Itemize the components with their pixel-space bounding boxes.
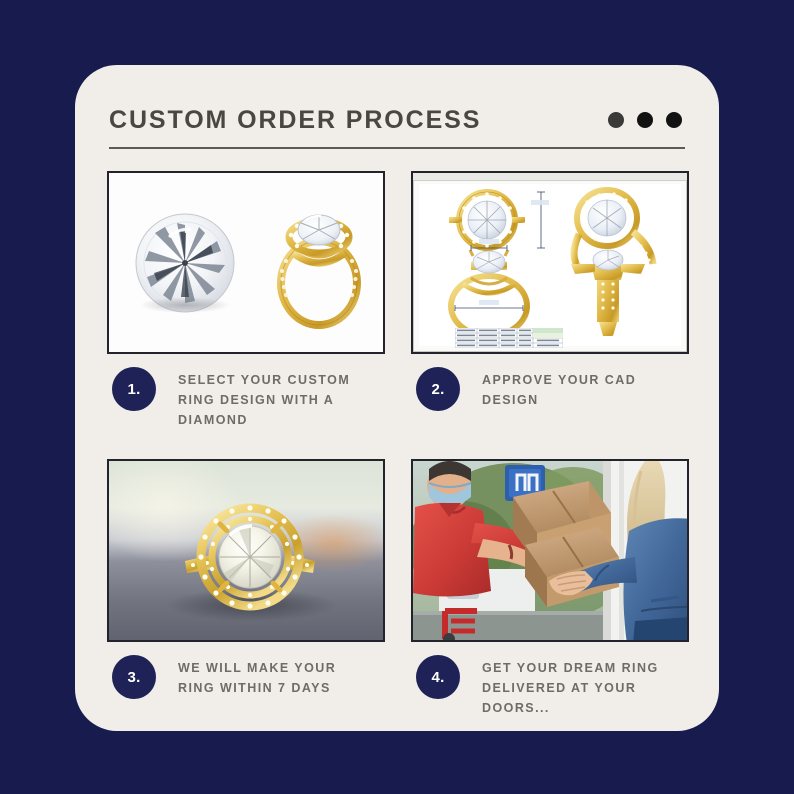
page-title: CUSTOM ORDER PROCESS bbox=[109, 106, 481, 135]
window-dot-2-icon[interactable] bbox=[637, 112, 653, 128]
step-3-thumbnail[interactable] bbox=[107, 459, 385, 642]
process-step-3: 3. WE WILL MAKE YOUR RING WITHIN 7 DAYS bbox=[107, 459, 385, 733]
step-3-caption-text: WE WILL MAKE YOUR RING WITHIN 7 DAYS bbox=[178, 658, 378, 698]
step-1-number-badge: 1. bbox=[112, 367, 156, 411]
card-titlebar: CUSTOM ORDER PROCESS bbox=[109, 90, 685, 150]
step-3-number-badge: 3. bbox=[112, 655, 156, 699]
step-4-thumbnail[interactable] bbox=[411, 459, 689, 642]
window-dot-3-icon[interactable] bbox=[666, 112, 682, 128]
window-dots bbox=[608, 112, 685, 128]
delivery-handoff-photo-image bbox=[413, 461, 687, 640]
step-2-number-badge: 2. bbox=[416, 367, 460, 411]
gold-halo-ring-icon bbox=[267, 199, 371, 331]
step-4-caption-text: GET YOUR DREAM RING DELIVERED AT YOUR DO… bbox=[482, 658, 682, 718]
step-2-caption-text: APPROVE YOUR CAD DESIGN bbox=[482, 370, 682, 410]
step-2-caption: 2. APPROVE YOUR CAD DESIGN bbox=[411, 367, 689, 445]
process-card: CUSTOM ORDER PROCESS bbox=[75, 65, 719, 731]
finished-ring-photo-image bbox=[109, 461, 383, 640]
header-divider bbox=[109, 147, 685, 149]
process-step-2: 2. APPROVE YOUR CAD DESIGN bbox=[411, 171, 689, 445]
process-step-1: 1. SELECT YOUR CUSTOM RING DESIGN WITH A… bbox=[107, 171, 385, 445]
step-4-caption: 4. GET YOUR DREAM RING DELIVERED AT YOUR… bbox=[411, 655, 689, 733]
loose-diamond-and-gold-halo-ring-image bbox=[109, 173, 383, 352]
step-1-caption: 1. SELECT YOUR CUSTOM RING DESIGN WITH A… bbox=[107, 367, 385, 445]
step-4-number-badge: 4. bbox=[416, 655, 460, 699]
cad-spec-table bbox=[455, 328, 563, 348]
finished-halo-ring-icon bbox=[177, 499, 323, 615]
step-3-caption: 3. WE WILL MAKE YOUR RING WITHIN 7 DAYS bbox=[107, 655, 385, 733]
window-dot-1-icon[interactable] bbox=[608, 112, 624, 128]
step-2-thumbnail[interactable] bbox=[411, 171, 689, 354]
step-1-caption-text: SELECT YOUR CUSTOM RING DESIGN WITH A DI… bbox=[178, 370, 378, 430]
delivery-scene-illustration bbox=[413, 461, 687, 640]
step-1-thumbnail[interactable] bbox=[107, 171, 385, 354]
cad-design-sheet-image bbox=[413, 173, 687, 352]
process-steps-grid: 1. SELECT YOUR CUSTOM RING DESIGN WITH A… bbox=[107, 171, 687, 733]
process-step-4: 4. GET YOUR DREAM RING DELIVERED AT YOUR… bbox=[411, 459, 689, 733]
cad-views-drawing bbox=[419, 184, 681, 346]
